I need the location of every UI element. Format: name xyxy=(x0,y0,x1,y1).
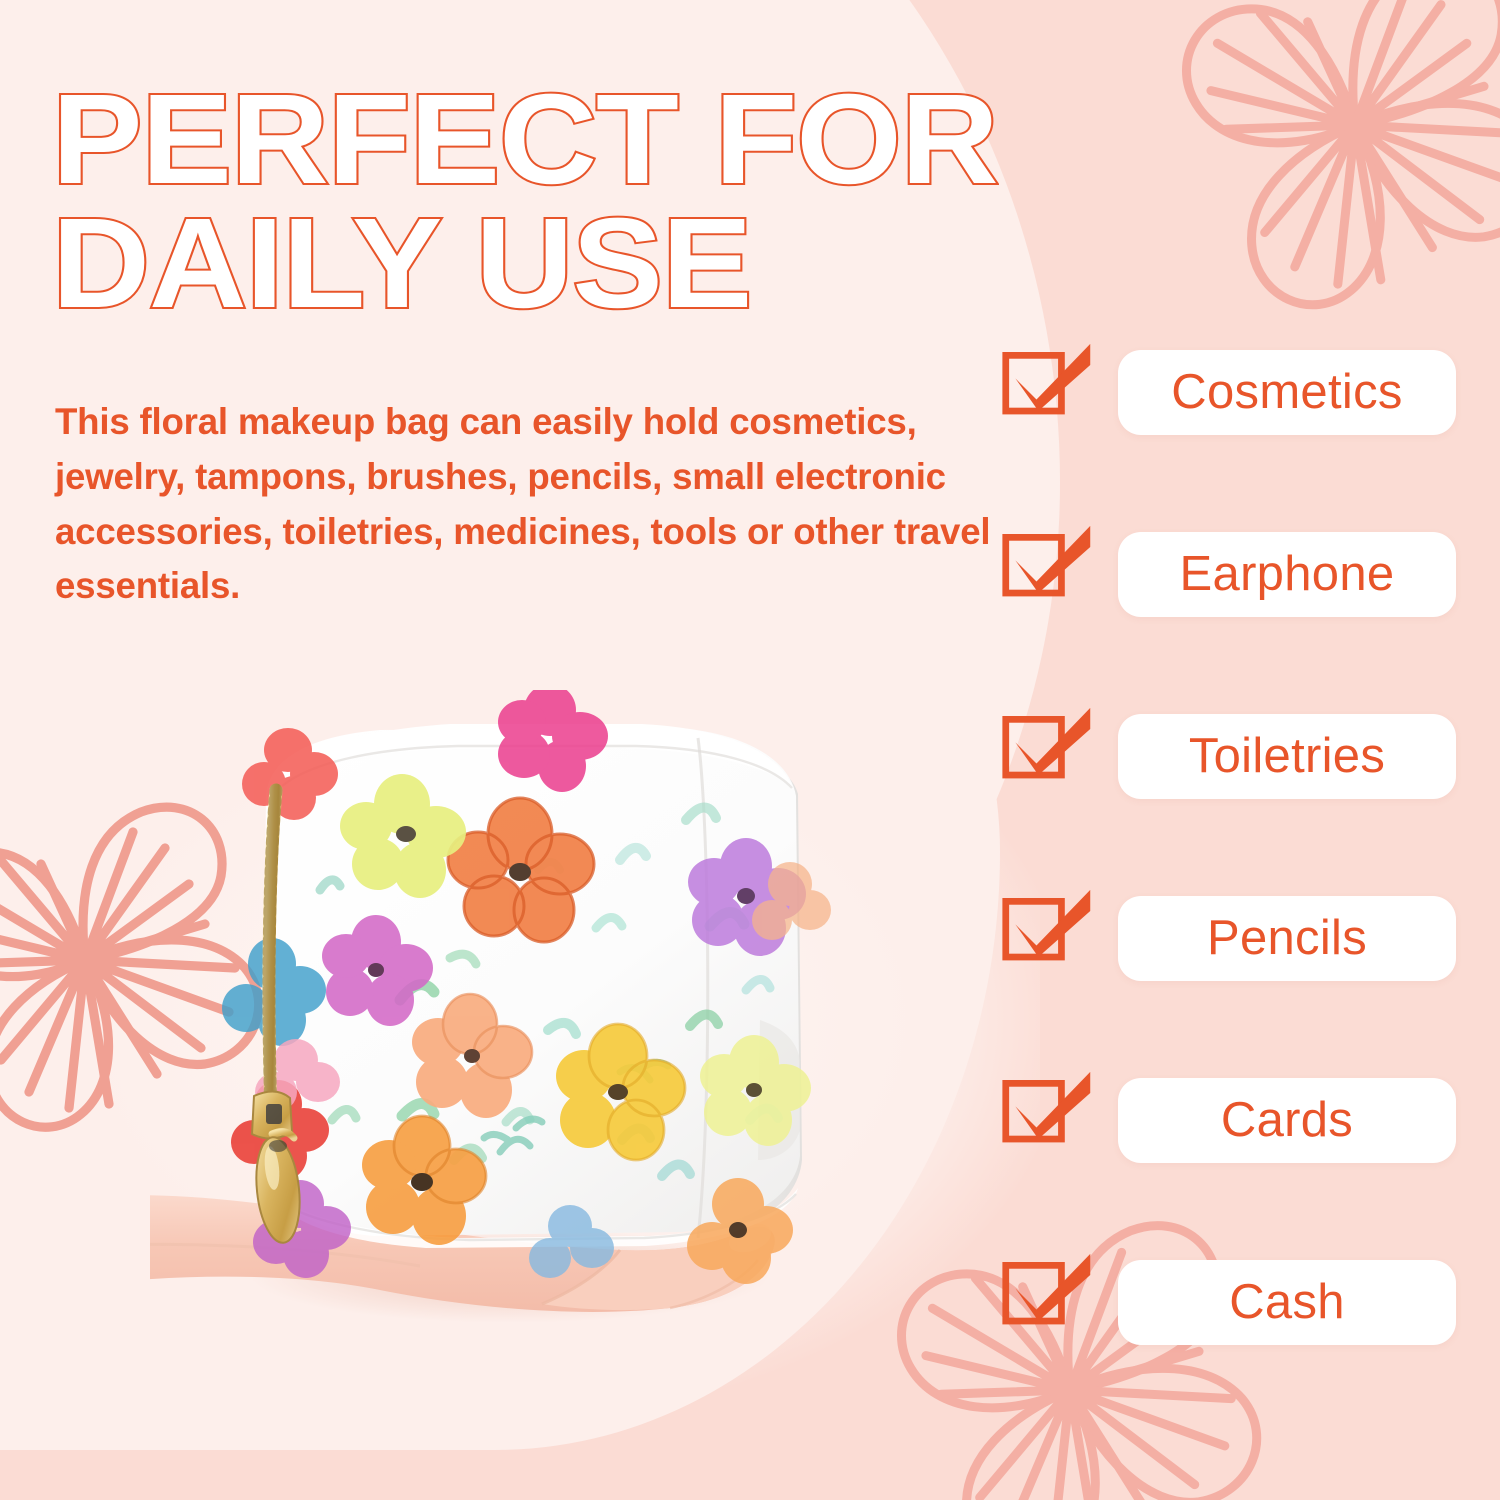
page-title: PERFECT FOR DAILY USE xyxy=(52,78,1112,326)
checklist-item-pencils[interactable]: Pencils xyxy=(1000,896,1470,981)
checklist-item-earphone[interactable]: Earphone xyxy=(1000,532,1470,617)
checkbox-checked-icon[interactable] xyxy=(1000,704,1096,800)
feature-checklist: Cosmetics Earphone Toiletries xyxy=(1000,350,1470,1345)
checklist-item-cash[interactable]: Cash xyxy=(1000,1260,1470,1345)
checklist-label: Cards xyxy=(1221,1096,1353,1145)
checklist-pill[interactable]: Pencils xyxy=(1118,896,1456,981)
checklist-item-cards[interactable]: Cards xyxy=(1000,1078,1470,1163)
checkbox-checked-icon[interactable] xyxy=(1000,1068,1096,1164)
checklist-label: Toiletries xyxy=(1189,732,1385,781)
checkbox-checked-icon[interactable] xyxy=(1000,1250,1096,1346)
checklist-label: Cash xyxy=(1229,1278,1345,1327)
checklist-pill[interactable]: Earphone xyxy=(1118,532,1456,617)
checklist-label: Pencils xyxy=(1207,914,1367,963)
checklist-pill[interactable]: Cards xyxy=(1118,1078,1456,1163)
checklist-pill[interactable]: Cash xyxy=(1118,1260,1456,1345)
product-description: This floral makeup bag can easily hold c… xyxy=(55,395,996,614)
checklist-pill[interactable]: Cosmetics xyxy=(1118,350,1456,435)
product-image-floral-makeup-bag xyxy=(150,690,910,1390)
makeup-bag xyxy=(222,690,831,1284)
checkbox-checked-icon[interactable] xyxy=(1000,340,1096,436)
checklist-label: Cosmetics xyxy=(1171,368,1402,417)
checklist-label: Earphone xyxy=(1180,550,1395,599)
checklist-item-cosmetics[interactable]: Cosmetics xyxy=(1000,350,1470,435)
checklist-pill[interactable]: Toiletries xyxy=(1118,714,1456,799)
poster-canvas: PERFECT FOR DAILY USE This floral makeup… xyxy=(0,0,1500,1500)
checkbox-checked-icon[interactable] xyxy=(1000,522,1096,618)
checkbox-checked-icon[interactable] xyxy=(1000,886,1096,982)
checklist-item-toiletries[interactable]: Toiletries xyxy=(1000,714,1470,799)
